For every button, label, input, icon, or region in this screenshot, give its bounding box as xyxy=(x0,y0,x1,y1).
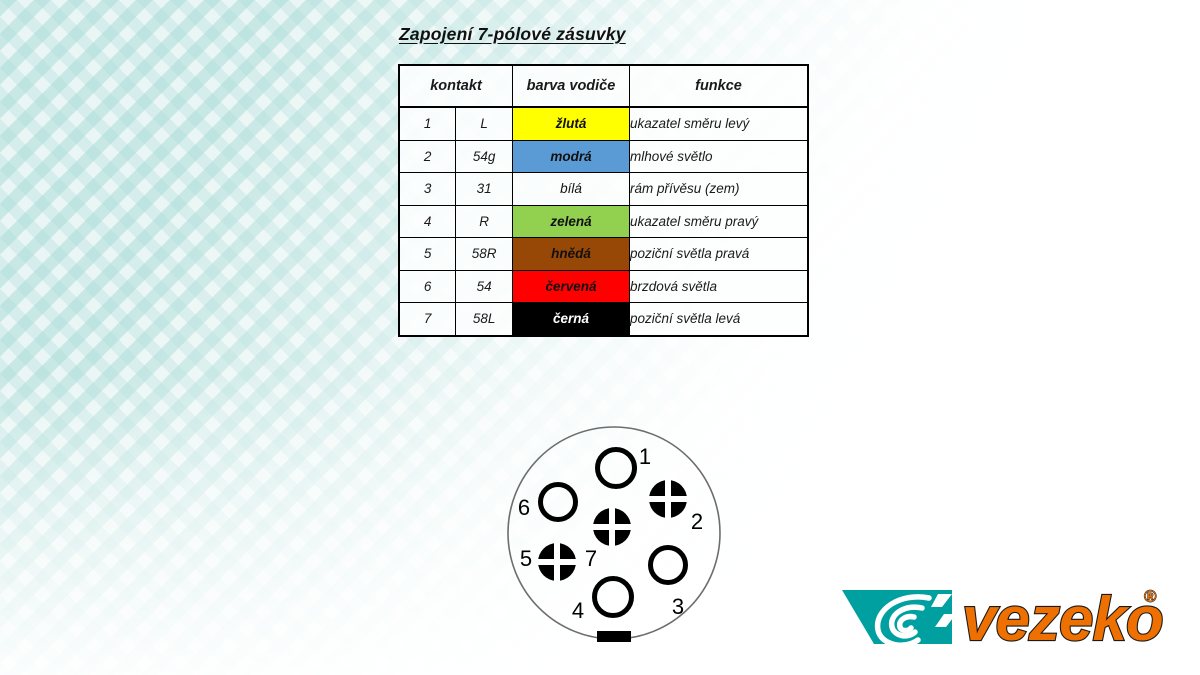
svg-text:vezeko: vezeko xyxy=(962,585,1163,654)
cell-pin-number: 2 xyxy=(399,140,456,173)
cell-pin-code: 58R xyxy=(456,238,513,271)
pin-cross-vertical xyxy=(554,542,560,582)
table-row: 4Rzelenáukazatel směru pravý xyxy=(399,205,808,238)
logo-mark-icon xyxy=(842,590,956,645)
cell-pin-number: 6 xyxy=(399,270,456,303)
pin-ring-icon xyxy=(598,450,635,487)
cell-wire-color: modrá xyxy=(513,140,630,173)
connector-pin-3: 3 xyxy=(651,548,686,619)
pin-label-1: 1 xyxy=(639,444,651,469)
table-row: 331bílárám přívěsu (zem) xyxy=(399,173,808,206)
connector-keyway xyxy=(597,631,631,642)
pin-label-5: 5 xyxy=(520,546,532,571)
connector-pin-group: 1234567 xyxy=(518,444,703,623)
pin-label-2: 2 xyxy=(691,509,703,534)
table-row: 654červenábrzdová světla xyxy=(399,270,808,303)
cell-pin-code: 54g xyxy=(456,140,513,173)
table-header: kontakt barva vodiče funkce xyxy=(399,65,808,107)
cell-wire-color: černá xyxy=(513,303,630,336)
connector-pin-5: 5 xyxy=(520,542,577,582)
connector-pin-1: 1 xyxy=(598,444,652,487)
cell-wire-color: zelená xyxy=(513,205,630,238)
cell-pin-code: 54 xyxy=(456,270,513,303)
pin-label-4: 4 xyxy=(572,598,584,623)
pin-ring-icon xyxy=(595,579,632,616)
column-header-barva-vodice: barva vodiče xyxy=(513,65,630,107)
table-body: 1Lžlutáukazatel směru levý254gmodrámlhov… xyxy=(399,107,808,336)
cell-function: ukazatel směru pravý xyxy=(630,205,809,238)
cell-pin-code: 58L xyxy=(456,303,513,336)
pin-label-7: 7 xyxy=(585,546,597,571)
cell-pin-number: 4 xyxy=(399,205,456,238)
table-row: 558Rhnědápoziční světla pravá xyxy=(399,238,808,271)
cell-function: rám přívěsu (zem) xyxy=(630,173,809,206)
table-row: 1Lžlutáukazatel směru levý xyxy=(399,107,808,140)
wiring-table: kontakt barva vodiče funkce 1Lžlutáukaza… xyxy=(398,64,809,337)
connector-diagram: 1234567 xyxy=(498,425,730,657)
cell-pin-code: 31 xyxy=(456,173,513,206)
column-header-kontakt: kontakt xyxy=(399,65,513,107)
cell-function: mlhové světlo xyxy=(630,140,809,173)
connector-pin-4: 4 xyxy=(572,579,632,623)
table-row: 254gmodrámlhové světlo xyxy=(399,140,808,173)
page-title: Zapojení 7-pólové zásuvky xyxy=(399,24,626,45)
pin-label-6: 6 xyxy=(518,495,530,520)
cell-wire-color: žlutá xyxy=(513,107,630,140)
cell-function: poziční světla levá xyxy=(630,303,809,336)
cell-pin-number: 1 xyxy=(399,107,456,140)
cell-wire-color: bílá xyxy=(513,173,630,206)
vezeko-logo: vezeko ® xyxy=(834,578,1164,656)
pin-label-3: 3 xyxy=(672,594,684,619)
pin-cross-vertical xyxy=(665,479,671,519)
cell-function: brzdová světla xyxy=(630,270,809,303)
cell-function: ukazatel směru levý xyxy=(630,107,809,140)
cell-wire-color: hnědá xyxy=(513,238,630,271)
column-header-funkce: funkce xyxy=(630,65,809,107)
pin-cross-vertical xyxy=(609,507,615,547)
cell-function: poziční světla pravá xyxy=(630,238,809,271)
table-header-row: kontakt barva vodiče funkce xyxy=(399,65,808,107)
logo-wordmark: vezeko ® xyxy=(962,585,1163,654)
cell-pin-number: 3 xyxy=(399,173,456,206)
table-row: 758Lčernápoziční světla levá xyxy=(399,303,808,336)
cell-pin-code: R xyxy=(456,205,513,238)
cell-pin-number: 5 xyxy=(399,238,456,271)
pin-ring-icon xyxy=(651,548,686,583)
connector-pin-6: 6 xyxy=(518,485,576,520)
cell-pin-code: L xyxy=(456,107,513,140)
cell-pin-number: 7 xyxy=(399,303,456,336)
connector-pin-7: 7 xyxy=(585,507,632,571)
svg-text:®: ® xyxy=(1144,587,1157,606)
connector-pin-2: 2 xyxy=(648,479,703,534)
cell-wire-color: červená xyxy=(513,270,630,303)
pin-ring-icon xyxy=(541,485,576,520)
